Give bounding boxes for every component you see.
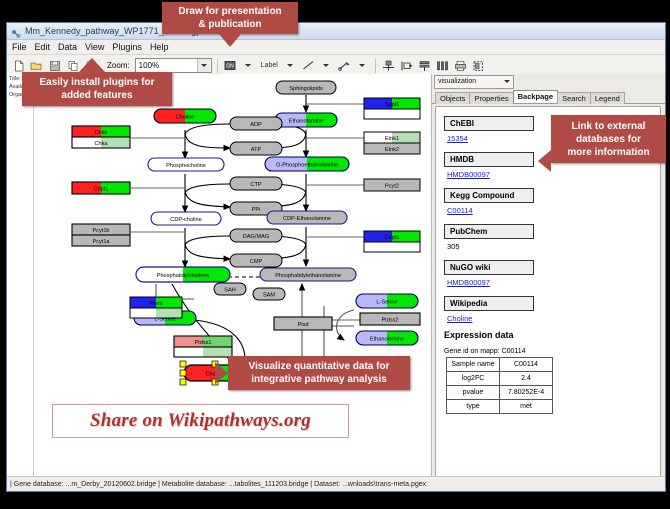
svg-text:Phosphatidylethanolamine: Phosphatidylethanolamine xyxy=(275,273,341,279)
svg-text:GN: GN xyxy=(226,64,234,70)
svg-text:Etnk1: Etnk1 xyxy=(385,136,399,142)
db-nugo-header: NuGO wiki xyxy=(444,260,534,275)
svg-text:Choline: Choline xyxy=(176,114,195,120)
align-center-icon[interactable] xyxy=(381,58,396,73)
db-nugo: NuGO wiki HMDB00097 xyxy=(444,257,660,287)
svg-text:Ptdss1: Ptdss1 xyxy=(194,340,211,346)
callout-plugins: Easily install plugins for added feature… xyxy=(22,72,172,106)
expression-data-heading: Expression data xyxy=(444,330,660,340)
cell-pvalue-value: 7.80252E-4 xyxy=(500,386,553,400)
svg-text:Pcyt1a: Pcyt1a xyxy=(92,239,110,245)
db-kegg-header: Kegg Compound xyxy=(444,188,534,203)
toolbar-separator-2 xyxy=(375,59,376,73)
svg-text:CDP-Ethanolamine: CDP-Ethanolamine xyxy=(283,216,331,222)
visualization-row: visualization xyxy=(432,74,665,89)
svg-text:CDP-choline: CDP-choline xyxy=(170,217,201,223)
db-wikipedia-header: Wikipedia xyxy=(444,296,534,311)
tab-search[interactable]: Search xyxy=(557,92,591,105)
menu-file[interactable]: File xyxy=(12,42,27,52)
callout-links-line3: more information xyxy=(567,146,649,159)
label-dropdown-icon[interactable] xyxy=(283,58,298,73)
svg-text:CTP: CTP xyxy=(250,182,261,188)
svg-text:Phosphocholine: Phosphocholine xyxy=(166,163,206,169)
cell-sample-name-value: C00114 xyxy=(500,358,553,372)
side-panel-tabs: Objects Properties Backpage Search Legen… xyxy=(432,89,665,104)
svg-text:Pcyt2: Pcyt2 xyxy=(385,184,399,190)
expression-table: Sample name C00114 log2FC 2.4 pvalue 7.8… xyxy=(446,357,553,414)
svg-text:Ptdss2: Ptdss2 xyxy=(381,318,398,324)
svg-text:ADP: ADP xyxy=(250,122,262,128)
copy-icon[interactable] xyxy=(65,58,80,73)
statusbar: | Gene database: ...m_Derby_20120602.bri… xyxy=(7,476,665,491)
table-row: type met xyxy=(447,400,553,414)
toolbar-separator xyxy=(217,59,218,73)
group-icon[interactable] xyxy=(471,58,486,73)
svg-text:Chpt1: Chpt1 xyxy=(94,187,109,193)
svg-text:Sphingolipids: Sphingolipids xyxy=(289,86,322,92)
share-banner-text: Share on Wikipathways.org xyxy=(90,410,311,432)
pathway-editor-pane: Title: Availa Organ xyxy=(7,74,432,491)
open-folder-icon[interactable] xyxy=(29,58,44,73)
svg-text:Etnk2: Etnk2 xyxy=(385,147,399,153)
zoom-value: 100% xyxy=(139,61,159,70)
menu-help[interactable]: Help xyxy=(150,42,169,52)
svg-text:Phosphatidylcholines: Phosphatidylcholines xyxy=(157,273,210,279)
screenshot-root: Mm_Kennedy_pathway_WP1771_45176.gpml Fil… xyxy=(0,0,670,509)
menu-edit[interactable]: Edit xyxy=(35,42,51,52)
tab-backpage[interactable]: Backpage xyxy=(513,90,558,104)
menu-data[interactable]: Data xyxy=(58,42,77,52)
svg-text:Pemt: Pemt xyxy=(149,301,163,307)
cell-type-value: met xyxy=(500,400,553,414)
db-wikipedia-link[interactable]: Choline xyxy=(447,314,660,323)
pathvisio-app-icon xyxy=(11,26,21,36)
svg-text:CMP: CMP xyxy=(250,259,263,265)
db-chebi-header: ChEBI xyxy=(444,116,534,131)
tab-legend[interactable]: Legend xyxy=(590,92,625,105)
table-row: pvalue 7.80252E-4 xyxy=(447,386,553,400)
svg-text:Ethanolamine: Ethanolamine xyxy=(370,336,404,342)
visualization-select[interactable]: visualization xyxy=(434,75,514,89)
svg-text:SAH: SAH xyxy=(224,287,236,293)
statusbar-text: | Gene database: ...m_Derby_20120602.bri… xyxy=(10,481,426,488)
callout-draw-line2: & publication xyxy=(178,18,281,31)
datanode-icon[interactable]: GN xyxy=(223,58,238,73)
label-button[interactable]: Label xyxy=(259,62,280,69)
menu-plugins[interactable]: Plugins xyxy=(112,42,142,52)
distribute-icon[interactable] xyxy=(435,58,450,73)
callout-visualize-line2: integrative pathway analysis xyxy=(249,373,390,386)
svg-text:Chka: Chka xyxy=(94,141,108,147)
cell-type-label: type xyxy=(447,400,500,414)
svg-text:O-Phosphoethanolamine: O-Phosphoethanolamine xyxy=(276,162,338,168)
callout-visualize: Visualize quantitative data for integrat… xyxy=(228,356,410,390)
db-hmdb-link[interactable]: HMDB00097 xyxy=(447,170,660,179)
tab-objects[interactable]: Objects xyxy=(435,92,470,105)
svg-text:DAG/MAG: DAG/MAG xyxy=(243,234,269,240)
cell-pvalue-label: pvalue xyxy=(447,386,500,400)
save-icon[interactable] xyxy=(47,58,62,73)
chevron-down-icon[interactable] xyxy=(197,59,210,72)
callout-links-line2: databases for xyxy=(567,133,649,146)
menubar: File Edit Data View Plugins Help xyxy=(7,40,665,55)
zoom-select[interactable]: 100% xyxy=(135,58,212,73)
db-wikipedia: Wikipedia Choline xyxy=(444,293,660,323)
callout-links: Link to external databases for more info… xyxy=(551,115,666,163)
db-pubchem-header: PubChem xyxy=(444,224,534,239)
db-hmdb-header: HMDB xyxy=(444,152,534,167)
align-left-icon[interactable] xyxy=(399,58,414,73)
callout-links-pointer xyxy=(538,150,551,172)
table-row: Sample name C00114 xyxy=(447,358,553,372)
pathway-canvas[interactable]: Choline Sphingolipids Ethanolamine ADP A… xyxy=(34,74,431,477)
callout-draw: Draw for presentation & publication xyxy=(162,2,298,34)
callout-visualize-line1: Visualize quantitative data for xyxy=(249,360,390,373)
pathway-info-margin: Title: Availa Organ xyxy=(7,74,34,491)
svg-text:ATP: ATP xyxy=(251,147,262,153)
svg-text:Cept1: Cept1 xyxy=(385,235,400,241)
svg-text:Pcyt1b: Pcyt1b xyxy=(92,228,109,234)
svg-text:SAM: SAM xyxy=(263,292,275,298)
interaction-dropdown-icon[interactable] xyxy=(355,58,370,73)
svg-text:Pisd: Pisd xyxy=(298,322,309,328)
callout-plugins-line1: Easily install plugins for xyxy=(39,76,154,89)
svg-text:PPi: PPi xyxy=(252,207,261,213)
svg-text:L-Serine: L-Serine xyxy=(376,299,397,305)
window-titlebar: Mm_Kennedy_pathway_WP1771_45176.gpml xyxy=(7,23,665,40)
db-pubchem: PubChem 305 xyxy=(444,221,660,251)
line-tool-icon[interactable] xyxy=(301,58,316,73)
db-kegg: Kegg Compound C00114 xyxy=(444,185,660,215)
svg-text:Ethanolamine: Ethanolamine xyxy=(289,118,323,124)
print-icon[interactable] xyxy=(453,58,468,73)
db-kegg-link[interactable]: C00114 xyxy=(447,206,660,215)
cell-sample-name-label: Sample name xyxy=(447,358,500,372)
callout-links-line1: Link to external xyxy=(567,120,649,133)
db-pubchem-value: 305 xyxy=(447,242,660,251)
stack-icon[interactable] xyxy=(417,58,432,73)
cell-log2fc-label: log2FC xyxy=(447,372,500,386)
callout-visualize-pointer xyxy=(215,362,228,384)
new-file-icon[interactable] xyxy=(11,58,26,73)
callout-draw-line1: Draw for presentation xyxy=(178,5,281,18)
datanode-dropdown-icon[interactable] xyxy=(241,58,256,73)
svg-text:Chkb: Chkb xyxy=(94,130,107,136)
share-banner: Share on Wikipathways.org xyxy=(52,404,349,438)
line-dropdown-icon[interactable] xyxy=(319,58,334,73)
callout-plugins-line2: added features xyxy=(39,89,154,102)
cell-log2fc-value: 2.4 xyxy=(500,372,553,386)
callout-plugins-pointer xyxy=(79,58,105,72)
gene-id-label: Gene id on mapp: C00114 xyxy=(444,348,660,355)
menu-view[interactable]: View xyxy=(85,42,104,52)
db-nugo-link[interactable]: HMDB00097 xyxy=(447,278,660,287)
interaction-tool-icon[interactable] xyxy=(337,58,352,73)
tab-properties[interactable]: Properties xyxy=(469,92,513,105)
svg-text:Sgpl1: Sgpl1 xyxy=(385,102,399,108)
table-row: log2FC 2.4 xyxy=(447,372,553,386)
chevron-down-icon[interactable] xyxy=(501,76,512,88)
zoom-label: Zoom: xyxy=(107,61,130,70)
callout-draw-pointer xyxy=(219,34,241,47)
visualization-value: visualization xyxy=(438,78,476,85)
